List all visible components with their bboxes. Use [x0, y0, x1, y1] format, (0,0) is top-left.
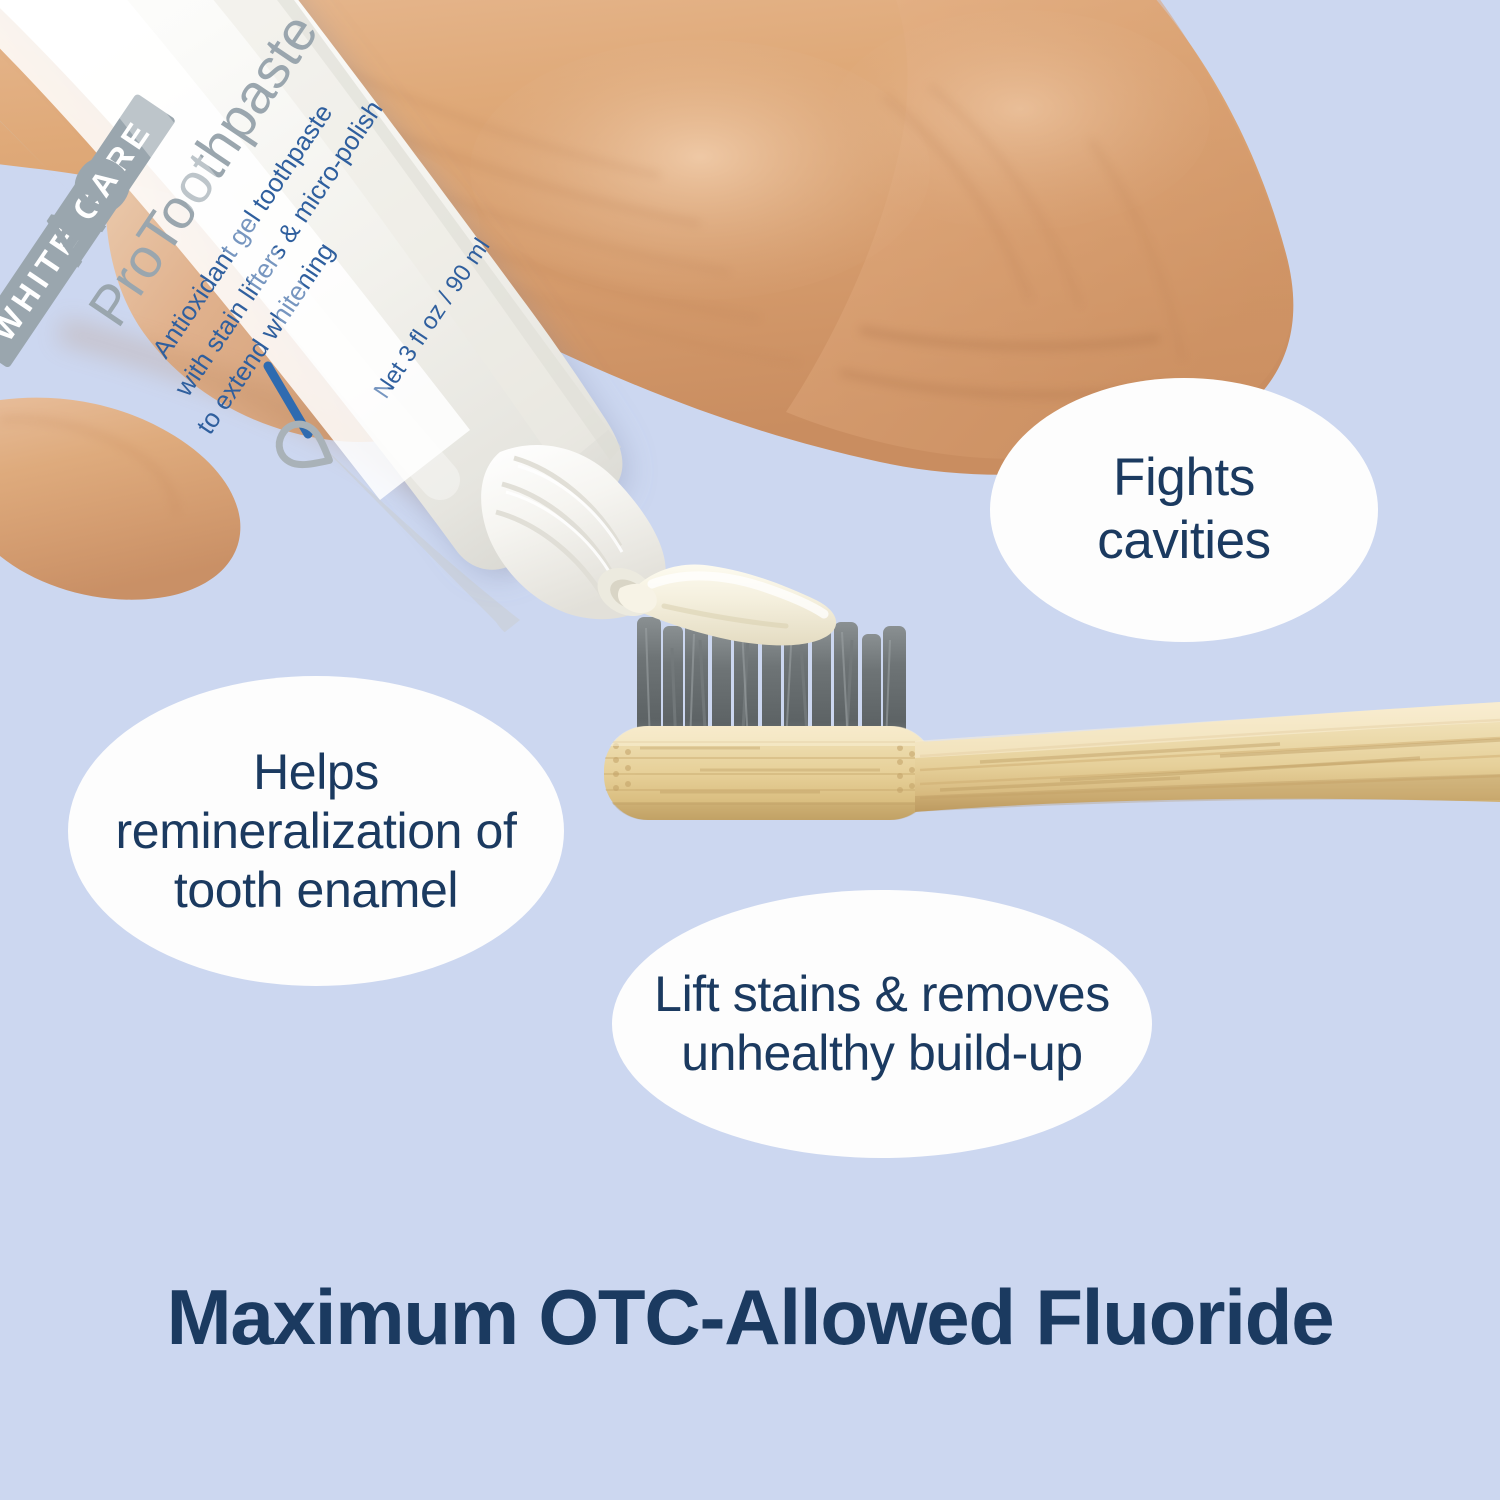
callout-helps-remineralization: Helps remineralization of tooth enamel [68, 676, 564, 986]
callout-fights-cavities: Fights cavities [990, 378, 1378, 642]
product-infographic: WHITE CARE AO ProToothpaste Antioxidant … [0, 0, 1500, 1500]
callout-cavities-text: Fights cavities [1024, 447, 1344, 572]
callout-lift-stains: Lift stains & removes unhealthy build-up [612, 890, 1152, 1158]
page-headline: Maximum OTC-Allowed Fluoride [0, 1272, 1500, 1363]
callout-stains-text: Lift stains & removes unhealthy build-up [642, 965, 1122, 1083]
callout-remineralization-text: Helps remineralization of tooth enamel [94, 743, 538, 920]
